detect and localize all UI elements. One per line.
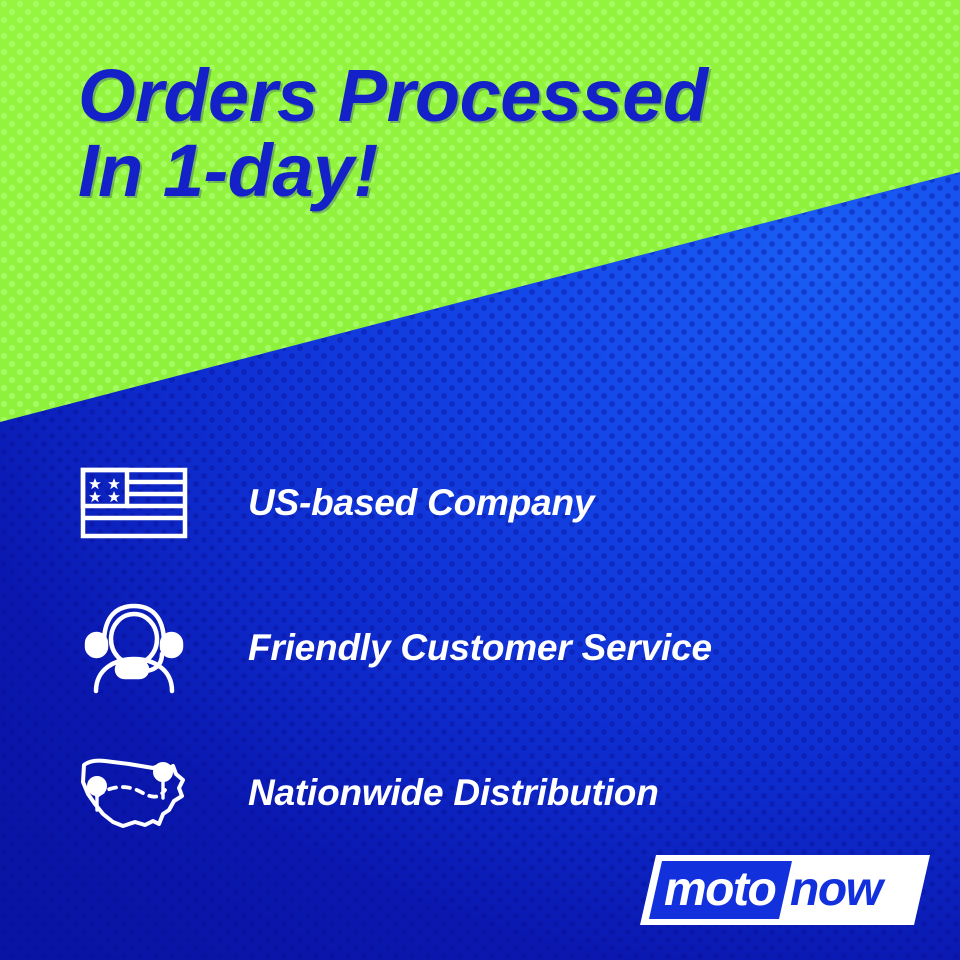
- us-flag-icon: [74, 455, 194, 551]
- feature-row-customer-service: Friendly Customer Service: [0, 575, 960, 720]
- feature-label-nationwide: Nationwide Distribution: [248, 772, 659, 814]
- feature-label-us-based: US-based Company: [248, 482, 594, 524]
- feature-row-nationwide: Nationwide Distribution: [0, 720, 960, 865]
- promo-graphic: Orders Processed In 1-day!: [0, 0, 960, 960]
- headline: Orders Processed In 1-day!: [78, 58, 908, 209]
- feature-row-us-based: US-based Company: [0, 430, 960, 575]
- motonow-logo: moto now: [640, 855, 930, 925]
- feature-list: US-based Company: [0, 430, 960, 865]
- feature-label-customer-service: Friendly Customer Service: [248, 627, 712, 669]
- headline-line-2: In 1-day!: [78, 133, 908, 208]
- headline-line-1: Orders Processed: [78, 58, 908, 133]
- logo-text-moto: moto: [664, 863, 775, 916]
- headset-agent-icon: [74, 600, 194, 696]
- logo-text-now: now: [790, 863, 886, 916]
- usa-map-pins-icon: [74, 745, 194, 841]
